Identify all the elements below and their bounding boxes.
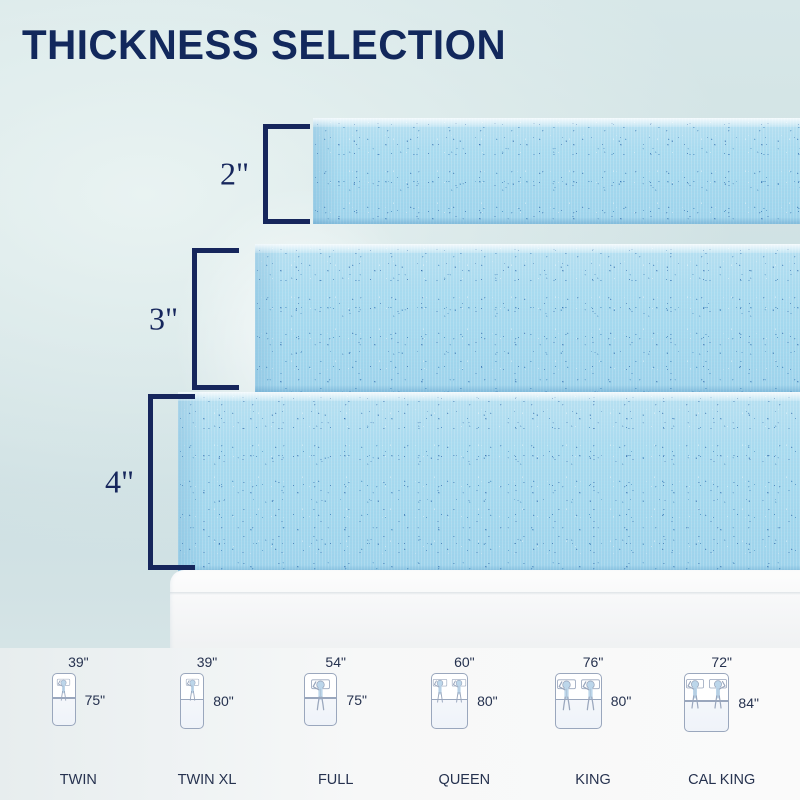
size-option-twin[interactable]: 39" 75" TWIN [14,648,143,800]
foam-grain [178,392,800,572]
thickness-label-2-inch: 2" [220,156,249,193]
bed-diagram-row: 80" [555,673,632,729]
bracket-bottom-cap [192,385,239,390]
bracket-bottom-cap [148,565,195,570]
thickness-selection-infographic: 2" 3" 4" THICKNESS SELECTION 39" [0,0,800,800]
bracket-vertical-bar [192,248,197,390]
bed-diagram-wrapper [684,673,729,732]
sleeper-figure-icon [556,678,577,711]
bed-diagram-row: 80" [180,673,234,729]
size-option-queen[interactable]: 60" 80" QUEEN [400,648,529,800]
height-label: 84" [738,695,759,711]
size-name-label: CAL KING [688,772,755,788]
foam-grain [255,244,800,392]
leg-left-shape [457,693,458,703]
bed-outline [304,673,337,726]
bracket-top-cap [263,124,310,129]
foam-photo-scene: 2" 3" 4" THICKNESS SELECTION [0,0,800,648]
bed-diagram-wrapper [180,673,204,729]
foam-slab-4-inch [178,392,800,572]
width-label: 60" [454,654,475,671]
size-name-label: KING [575,772,610,788]
size-option-cal-king[interactable]: 72" 84" CAL KING [657,648,786,800]
leg-right-shape [441,693,442,703]
size-options-list: 39" 75" TWIN 39" [0,648,800,800]
bed-outline [555,673,602,729]
bracket-top-cap [192,248,239,253]
sleeper-figure-icon [185,678,200,701]
bed-outline [180,673,204,729]
sleeper-figure-icon [580,678,601,711]
mattress-size-chart: 39" 75" TWIN 39" [0,648,800,800]
blanket-line [305,697,336,699]
blanket-line [556,699,601,701]
bed-diagram-wrapper [304,673,337,726]
size-name-label: QUEEN [439,772,491,788]
size-name-label: TWIN [60,772,97,788]
height-label: 75" [346,692,367,708]
bed-outline [431,673,468,729]
thickness-label-3-inch: 3" [149,301,178,338]
sleepers-group [556,674,601,711]
bed-diagram-wrapper [52,673,76,726]
width-label: 39" [68,654,89,671]
blanket-line [53,697,75,699]
bracket-vertical-bar [148,394,153,570]
blanket-line [432,699,467,701]
foam-left-shading [178,392,204,572]
bracket-top-cap [148,394,195,399]
foam-top-edge [313,118,800,127]
foam-slab-2-inch [313,118,800,224]
sleepers-group [305,674,336,711]
bed-diagram-row: 80" [431,673,498,729]
bed-diagram-wrapper [555,673,602,729]
sleeper-figure-icon [310,678,331,711]
leg-left-shape [692,696,694,708]
bracket-bottom-cap [263,219,310,224]
leg-right-shape [715,696,717,708]
width-label: 39" [197,654,218,671]
bed-outline [52,673,76,726]
leg-left-shape [438,693,439,703]
bed-outline [684,673,729,732]
foam-bottom-edge [255,385,800,392]
sleeper-figure-icon [708,678,728,709]
size-option-king[interactable]: 76" 80" KING [529,648,658,800]
bracket-vertical-bar [263,124,268,224]
sleepers-group [685,674,728,709]
size-option-twin-xl[interactable]: 39" 80" TWIN XL [143,648,272,800]
height-label: 80" [477,693,498,709]
bed-diagram-row: 84" [684,673,759,732]
size-name-label: FULL [318,772,353,788]
sleeper-figure-icon [685,678,705,709]
leg-right-shape [697,696,699,708]
foam-left-shading [255,244,281,392]
white-mattress-base [170,570,800,648]
foam-top-edge [255,244,800,253]
bed-diagram-row: 75" [52,673,106,726]
sleepers-group [181,674,203,701]
mattress-seam [170,592,800,595]
leg-left-shape [720,696,722,708]
bed-diagram-row: 75" [304,673,367,726]
foam-left-shading [313,118,339,224]
width-label: 72" [711,654,732,671]
foam-slab-3-inch [255,244,800,392]
height-label: 75" [85,692,106,708]
blanket-line [181,699,203,701]
foam-top-edge [178,392,800,401]
thickness-label-4-inch: 4" [105,464,134,501]
height-label: 80" [213,693,234,709]
size-name-label: TWIN XL [178,772,237,788]
height-label: 80" [611,693,632,709]
width-label: 76" [583,654,604,671]
bed-diagram-wrapper [431,673,468,729]
foam-grain [313,118,800,224]
leg-right-shape [460,693,461,703]
foam-bottom-edge [313,217,800,224]
size-option-full[interactable]: 54" 75" FULL [271,648,400,800]
page-title: THICKNESS SELECTION [22,22,506,68]
width-label: 54" [325,654,346,671]
